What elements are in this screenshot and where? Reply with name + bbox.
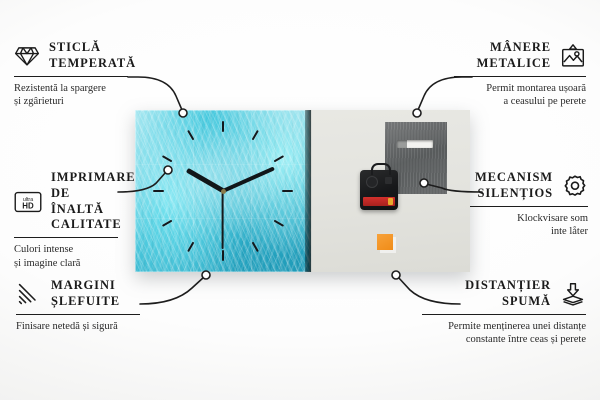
infographic-canvas: STICLĂ TEMPERATĂ Rezistentă la spargere … [0, 0, 600, 400]
mechanism-dial [366, 176, 378, 188]
clock-back-panel [311, 110, 470, 272]
feature-title: STICLĂ TEMPERATĂ [49, 40, 136, 72]
feature-header: STICLĂ TEMPERATĂ [14, 40, 146, 72]
clock-front-panel [135, 110, 311, 272]
arrow-down-foam-icon [560, 282, 586, 306]
feature-title: MECANISM SILENȚIOS [475, 170, 553, 202]
feature-silent-mechanism: MECANISM SILENȚIOS Klockvisare som inte … [470, 170, 588, 239]
feature-metal-handles: MÂNERE METALICE Permit montarea ușoară a… [454, 40, 586, 109]
feature-description: Finisare netedă și sigură [16, 320, 144, 333]
battery [363, 197, 395, 206]
hanger-slot [397, 140, 433, 148]
mechanism-button [385, 177, 392, 184]
feature-header: MÂNERE METALICE [454, 40, 586, 72]
diamond-icon [14, 44, 40, 68]
feature-tempered-glass: STICLĂ TEMPERATĂ Rezistentă la spargere … [14, 40, 146, 109]
feature-description: Culori intense și imagine clară [14, 243, 136, 270]
feature-header: MARGINI ȘLEFUITE [16, 278, 144, 310]
feature-high-quality-print: ultra HD IMPRIMARE DE ÎNALTĂ CALITATE Cu… [14, 170, 136, 270]
picture-frame-hook-icon [560, 44, 586, 68]
feature-underline [16, 314, 140, 315]
feature-underline [14, 76, 128, 77]
mechanism-hanging-loop [371, 163, 391, 175]
svg-text:HD: HD [22, 201, 34, 210]
quartz-mechanism [360, 170, 398, 210]
feature-description: Permite menținerea unei distanțe constan… [422, 320, 586, 347]
gear-icon [562, 174, 588, 198]
feature-underline [470, 206, 588, 207]
feature-foam-spacer: DISTANȚIER SPUMĂ Permite menținerea unei… [422, 278, 586, 347]
feature-title: MARGINI ȘLEFUITE [51, 278, 120, 310]
feature-description: Klockvisare som inte låter [470, 212, 588, 239]
feature-title: DISTANȚIER SPUMĂ [465, 278, 551, 310]
feature-header: DISTANȚIER SPUMĂ [422, 278, 586, 310]
feature-underline [422, 314, 586, 315]
feature-polished-edges: MARGINI ȘLEFUITE Finisare netedă și sigu… [16, 278, 144, 333]
clock-center-pin [221, 189, 226, 194]
ultra-hd-icon: ultra HD [14, 190, 42, 214]
feature-underline [454, 76, 586, 77]
feature-description: Rezistentă la spargere și zgârieturi [14, 82, 146, 109]
foam-spacer-pad [377, 234, 393, 250]
product-image [135, 110, 470, 272]
feature-title: IMPRIMARE DE ÎNALTĂ CALITATE [51, 170, 136, 233]
clock-second-hand [222, 191, 224, 249]
feature-description: Permit montarea ușoară a ceasului pe per… [454, 82, 586, 109]
feature-title: MÂNERE METALICE [477, 40, 551, 72]
polished-edges-icon [16, 282, 42, 306]
feature-underline [14, 237, 118, 238]
feature-header: ultra HD IMPRIMARE DE ÎNALTĂ CALITATE [14, 170, 136, 233]
feature-header: MECANISM SILENȚIOS [470, 170, 588, 202]
